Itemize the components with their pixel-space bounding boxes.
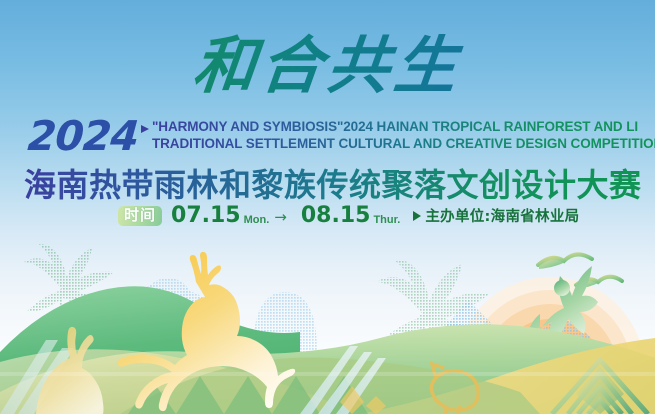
english-subtitle: "HARMONY AND SYMBIOSIS"2024 HAINAN TROPI… — [152, 118, 655, 152]
poster-canvas: 和合共生 2024 "HARMONY AND SYMBIOSIS"2024 HA… — [0, 0, 655, 414]
host-organization: 主办单位:海南省林业局 — [425, 205, 579, 226]
time-label-badge: 时间 — [118, 206, 162, 226]
end-day-of-week: Thur. — [373, 214, 400, 226]
english-subtitle-line-2: TRADITIONAL SETTLEMENT CULTURAL AND CREA… — [152, 135, 655, 152]
chinese-title: 海南热带雨林和黎族传统聚落文创设计大赛 — [24, 160, 642, 206]
text-layer: 和合共生 2024 "HARMONY AND SYMBIOSIS"2024 HA… — [0, 0, 655, 414]
start-day-of-week: Mon. — [244, 214, 270, 226]
year-label: 2024 — [26, 112, 139, 160]
start-date: 07.15 — [171, 203, 241, 228]
host-triangle-icon — [413, 211, 421, 221]
end-date: 08.15 — [301, 203, 371, 228]
date-line: 时间 07.15 Mon. → 08.15 Thur. 主办单位:海南省林业局 — [118, 203, 579, 228]
triangle-bullet-icon — [141, 125, 149, 133]
english-subtitle-line-1: "HARMONY AND SYMBIOSIS"2024 HAINAN TROPI… — [152, 118, 655, 135]
calligraphy-title: 和合共生 — [0, 30, 655, 101]
date-arrow-icon: → — [274, 208, 287, 226]
